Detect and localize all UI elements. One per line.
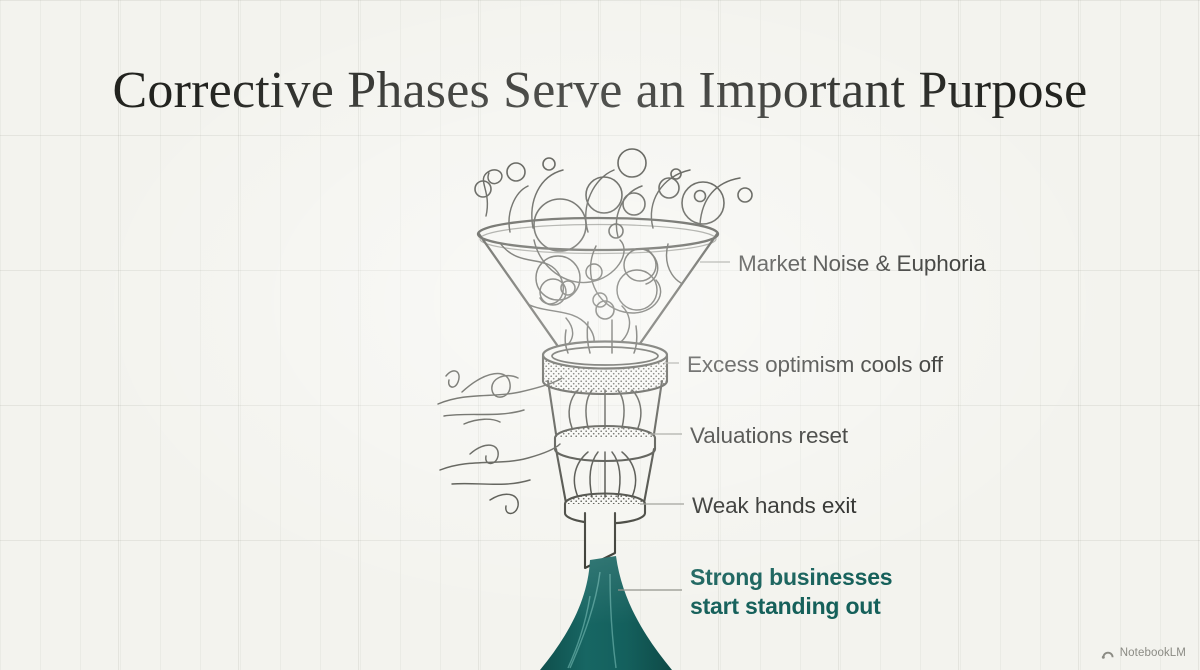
page-title: Corrective Phases Serve an Important Pur… <box>0 62 1200 119</box>
callout-label-excess-optimism: Excess optimism cools off <box>687 352 943 378</box>
notebooklm-watermark-label: NotebookLM <box>1120 647 1186 659</box>
wind-swirls <box>438 371 562 514</box>
filter-stage-1 <box>543 342 667 395</box>
slide-canvas: Corrective Phases Serve an Important Pur… <box>0 0 1200 670</box>
callout-label-valuations-reset: Valuations reset <box>690 423 848 449</box>
notebooklm-logo-icon <box>1101 646 1115 660</box>
cone-interior-swirls <box>500 240 692 348</box>
funnel-cone <box>478 218 718 345</box>
callout-label-market-noise: Market Noise & Euphoria <box>738 251 986 277</box>
notebooklm-watermark: NotebookLM <box>1101 646 1186 660</box>
callout-label-line-1: Strong businesses <box>690 563 892 592</box>
callout-label-weak-hands-exit: Weak hands exit <box>692 493 856 519</box>
clean-output-stream <box>540 556 672 670</box>
flow-lines-stage-2 <box>569 390 641 428</box>
callout-label-strong-businesses: Strong businesses start standing out <box>690 563 892 621</box>
callout-label-line-2: start standing out <box>690 592 892 621</box>
